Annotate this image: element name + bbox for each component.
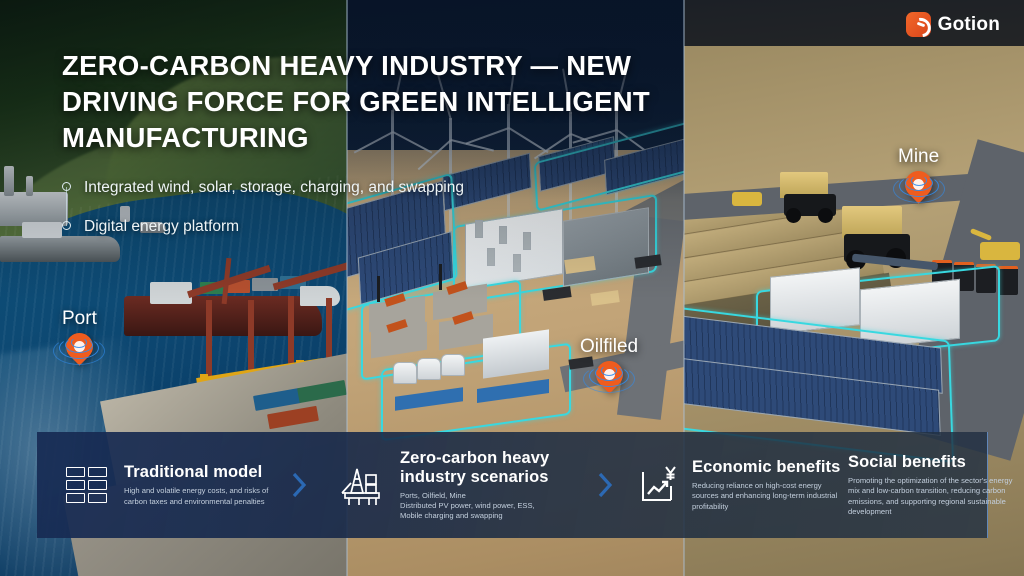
- pumpjack-mast: [377, 276, 380, 302]
- map-marker-port[interactable]: Port: [62, 308, 97, 360]
- list-item: Integrated wind, solar, storage, chargin…: [84, 178, 702, 199]
- gotion-logo-icon: [906, 12, 931, 37]
- grid-blocks-icon: [62, 467, 110, 503]
- truck-wheel: [818, 208, 833, 223]
- pin-ripple-oilfield: [582, 362, 636, 388]
- pin-label-port: Port: [62, 308, 97, 330]
- bulldozer: [732, 192, 762, 206]
- hero-bullet-list: Integrated wind, solar, storage, chargin…: [62, 178, 702, 237]
- ess-unit: [487, 248, 495, 266]
- brand-logo[interactable]: Gotion: [906, 12, 1000, 37]
- slide-canvas: Gotion ZERO-CARBON HEAVY INDUSTRY — NEW …: [0, 0, 1024, 576]
- pin-ripple-mine: [892, 172, 946, 198]
- charging-cabinet: [998, 266, 1018, 295]
- excavator: [980, 242, 1020, 260]
- bar-item-economic-benefits[interactable]: Economic benefits Reducing reliance on h…: [620, 432, 842, 538]
- storage-tank: [441, 354, 465, 376]
- port-rig-tower: [4, 166, 14, 196]
- port-rig-tower-2: [26, 176, 33, 196]
- pumpjack-mast: [439, 264, 442, 290]
- pin-ripple-port: [52, 334, 106, 360]
- storage-tank: [393, 362, 417, 384]
- port-barge-house: [22, 222, 62, 238]
- bullet-text: Integrated wind, solar, storage, chargin…: [84, 179, 464, 196]
- ess-unit: [513, 254, 521, 272]
- bullet-dot-icon: [62, 221, 71, 230]
- bullet-dot-icon: [62, 182, 71, 191]
- bar-item-social-benefits[interactable]: Social benefits Promoting the optimizati…: [842, 432, 1024, 538]
- pin-label-mine: Mine: [898, 146, 939, 168]
- truck-wheel: [786, 208, 801, 223]
- bar-title: Social benefits: [848, 453, 1024, 472]
- bar-desc: Promoting the optimization of the sector…: [848, 476, 1024, 517]
- map-marker-oilfield[interactable]: Oilfiled: [580, 336, 638, 388]
- bar-item-traditional-model[interactable]: Traditional model High and volatile ener…: [37, 432, 284, 538]
- bar-desc: High and volatile energy costs, and risk…: [124, 486, 284, 507]
- chart-yen-icon: [636, 464, 682, 506]
- oil-rig-icon: [336, 463, 388, 507]
- port-offshore-rig: [0, 192, 68, 226]
- bar-title: Economic benefits: [692, 458, 842, 477]
- list-item: Digital energy platform: [84, 217, 702, 238]
- bar-title: Zero-carbon heavy industry scenarios: [400, 449, 590, 487]
- bar-desc: Reducing reliance on high-cost energy so…: [692, 481, 842, 512]
- bottom-summary-bar: Traditional model High and volatile ener…: [37, 432, 988, 538]
- brand-name: Gotion: [938, 14, 1000, 36]
- bar-item-zero-carbon-scenarios[interactable]: Zero-carbon heavy industry scenarios Por…: [314, 432, 590, 538]
- pin-label-oilfield: Oilfiled: [580, 336, 638, 358]
- port-ship-cabin: [150, 282, 192, 304]
- chevron-right-icon: [590, 470, 620, 500]
- bar-title: Traditional model: [124, 463, 284, 482]
- page-title: ZERO-CARBON HEAVY INDUSTRY — NEW DRIVING…: [62, 48, 702, 156]
- hero-text-block: ZERO-CARBON HEAVY INDUSTRY — NEW DRIVING…: [62, 48, 702, 237]
- chevron-right-icon: [284, 470, 314, 500]
- port-barge: [0, 236, 120, 262]
- bullet-text: Digital energy platform: [84, 218, 239, 235]
- bar-desc: Ports, Oilfield, Mine Distributed PV pow…: [400, 491, 590, 522]
- port-ship-bow: [300, 286, 340, 306]
- map-marker-mine[interactable]: Mine: [898, 146, 939, 198]
- storage-tank: [417, 358, 441, 380]
